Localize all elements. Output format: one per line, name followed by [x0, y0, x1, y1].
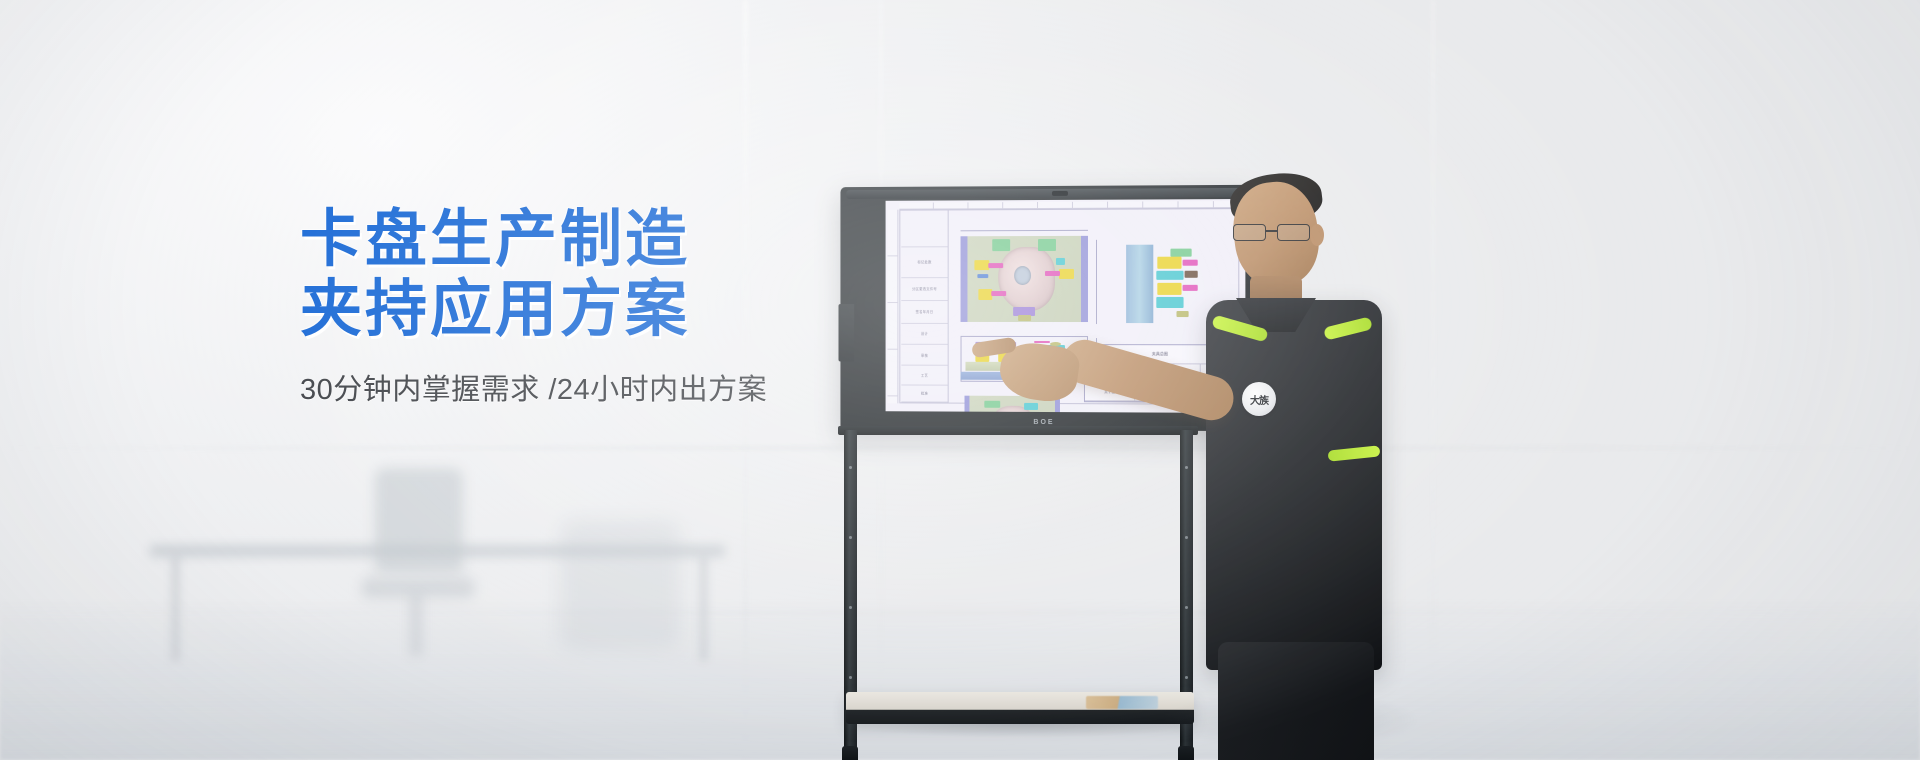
glasses-icon [1233, 224, 1315, 241]
side-view-plate [1126, 245, 1154, 323]
blurred-office-chair [375, 468, 463, 573]
spec-row: 工艺 [901, 366, 947, 385]
presenter: 大族 [1178, 172, 1408, 760]
stand-shelf [846, 692, 1194, 724]
hero-subheadline: 30分钟内掌握需求 /24小时内出方案 [300, 371, 770, 409]
stand-crossbar [838, 426, 1198, 435]
chair-stem [409, 594, 423, 656]
fixture-base-plate [961, 236, 1088, 322]
spec-row: 分区更改文件号 [901, 278, 947, 301]
spec-row: 设计 [901, 324, 947, 345]
lower-body [1218, 642, 1374, 760]
desk-leg [699, 556, 708, 661]
cad-viewport-plan [961, 236, 1088, 322]
company-logo: 大族 [1242, 382, 1276, 416]
blurred-office-chair-secondary [560, 520, 680, 650]
spec-row: 标记处数 [901, 247, 947, 278]
display-side-panel [838, 304, 854, 361]
headline-line-1: 卡盘生产制造 [300, 205, 770, 275]
drawing-spec-column: 标记处数 分区更改文件号 签名年月日 设计 审核 工艺 批准 [901, 210, 948, 402]
workpiece-casting [998, 247, 1055, 311]
hero-copy: 卡盘生产制造 夹持应用方案 30分钟内掌握需求 /24小时内出方案 [300, 205, 770, 409]
desk-leg [171, 556, 180, 661]
torso-polo-shirt [1206, 300, 1382, 670]
sheet-ruler-left [888, 210, 899, 404]
shelf-shadow [838, 724, 1202, 738]
shelf-item [1086, 696, 1158, 709]
camera-icon [1052, 191, 1068, 196]
spec-row: 审核 [901, 345, 947, 366]
spec-row: 签名年月日 [901, 301, 947, 324]
spec-row: 批准 [901, 385, 947, 402]
hero-banner: 卡盘生产制造 夹持应用方案 30分钟内掌握需求 /24小时内出方案 BOE 标记… [0, 0, 1920, 760]
stand-caster [842, 746, 858, 760]
headline-line-2: 夹持应用方案 [300, 275, 770, 345]
display-brand-label: BOE [1033, 419, 1054, 426]
